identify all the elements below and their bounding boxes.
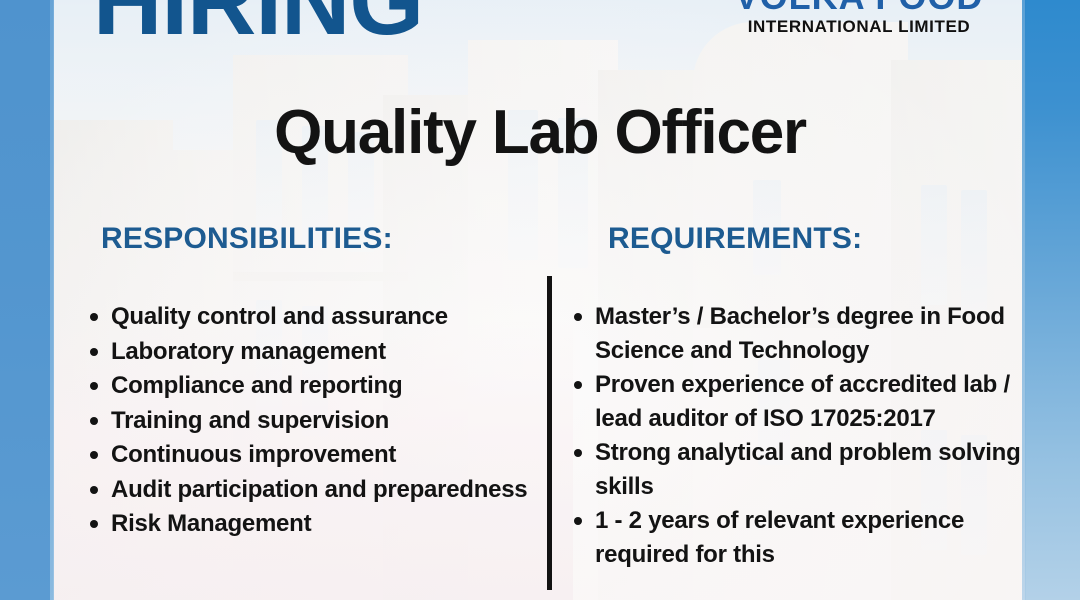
requirements-list: Master’s / Bachelor’s degree in Food Sci… [565,300,1055,572]
list-item: 1 - 2 years of relevant experience requi… [595,504,1055,571]
job-posting-poster: HIRING VOLKA FOOD INTERNATIONAL LIMITED … [0,0,1080,600]
company-name: VOLKA FOOD [694,0,1024,16]
responsibilities-list: Quality control and assurance Laboratory… [81,300,581,542]
list-item: Laboratory management [111,335,581,369]
job-title: Quality Lab Officer [0,98,1080,168]
company-logo: VOLKA FOOD INTERNATIONAL LIMITED [694,0,1024,37]
list-item: Risk Management [111,507,581,541]
responsibilities-heading: RESPONSIBILITIES: [101,222,393,256]
list-item: Quality control and assurance [111,300,581,334]
requirements-heading: REQUIREMENTS: [608,222,862,256]
list-item: Training and supervision [111,404,581,438]
left-blue-band [0,0,53,600]
list-item: Audit participation and preparedness [111,473,581,507]
list-item: Strong analytical and problem solving sk… [595,436,1055,503]
list-item: Compliance and reporting [111,369,581,403]
list-item: Continuous improvement [111,438,581,472]
company-suffix: INTERNATIONAL LIMITED [694,17,1024,37]
left-band-edge [50,0,54,600]
list-item: Proven experience of accredited lab / le… [595,368,1055,435]
list-item: Master’s / Bachelor’s degree in Food Sci… [595,300,1055,367]
hiring-headline: HIRING [93,0,423,50]
